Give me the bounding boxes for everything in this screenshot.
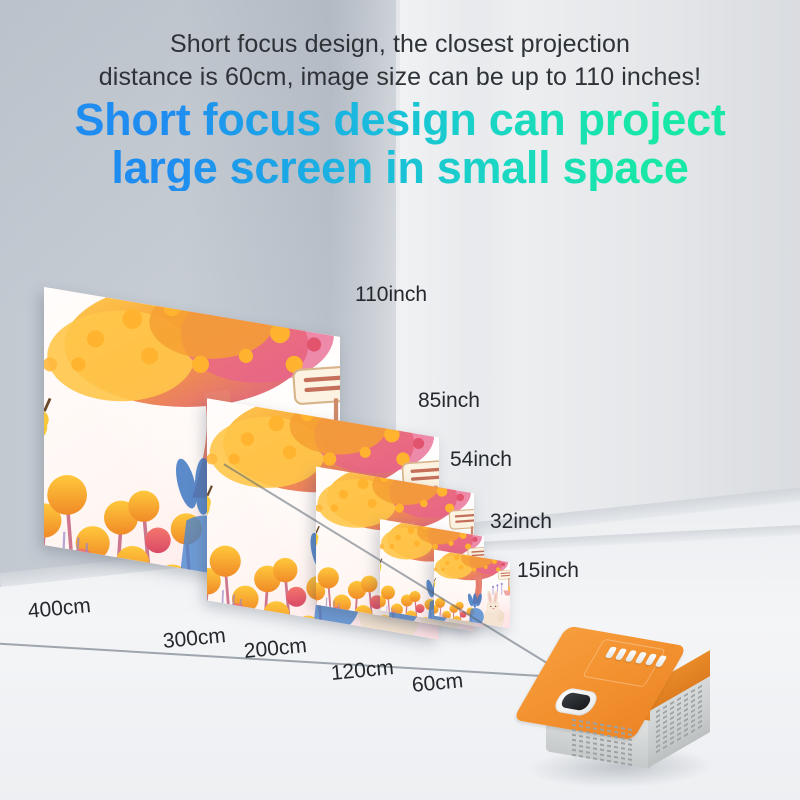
subtitle: Short focus design, the closest projecti… — [0, 28, 800, 94]
headline: Short focus design can project large scr… — [0, 96, 800, 191]
headline-line-2: large screen in small space — [0, 144, 800, 192]
headline-line-1: Short focus design can project — [74, 94, 725, 145]
distance-label-60cm: 60cm — [411, 669, 464, 698]
projector-device[interactable] — [516, 630, 726, 780]
product-infographic: Short focus design, the closest projecti… — [0, 0, 800, 800]
subtitle-line-1: Short focus design, the closest projecti… — [0, 28, 800, 61]
size-label-85inch: 85inch — [418, 389, 480, 413]
size-label-54inch: 54inch — [450, 448, 512, 472]
size-label-32inch: 32inch — [490, 510, 552, 534]
size-label-110inch: 110inch — [355, 283, 427, 307]
subtitle-line-2: distance is 60cm, image size can be up t… — [0, 61, 800, 94]
size-label-15inch: 15inch — [517, 559, 579, 583]
projector-button-6[interactable] — [655, 655, 668, 667]
